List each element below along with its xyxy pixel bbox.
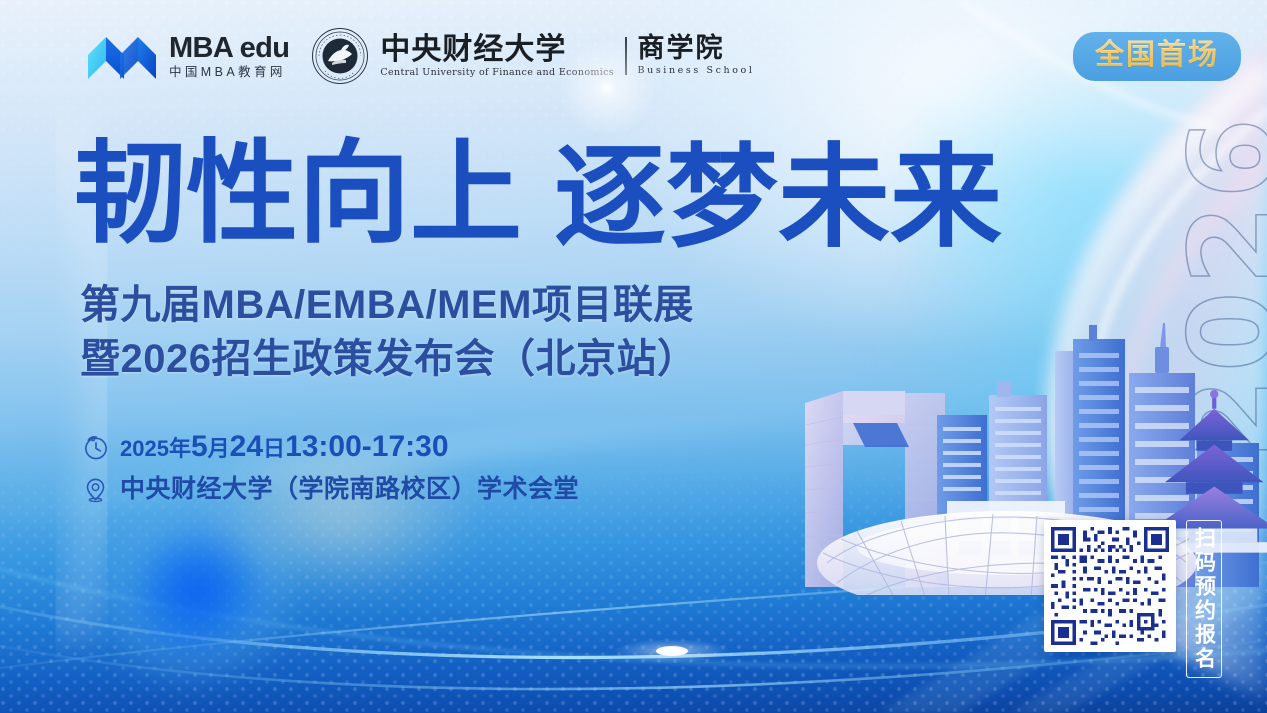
cufe-name-en: Central University of Finance and Econom… (380, 68, 614, 78)
national-first-badge-label: 全国首场 (1095, 39, 1219, 71)
date-month-unit: 月 (208, 436, 230, 461)
cufe-logo: 中央财经大学 Central University of Finance and… (311, 27, 754, 85)
event-location-row: 中央财经大学（学院南路校区）学术会堂 (82, 476, 579, 503)
qr-code-card[interactable] (1044, 520, 1176, 652)
mba-edu-title: MBA edu (169, 34, 289, 63)
qr-label-box: 扫码预约报名 (1186, 520, 1222, 678)
event-date-text: 2025年5月24日13:00-17:30 (120, 432, 449, 462)
calligraphy-headline: 韧性向上 逐梦未来 (74, 124, 974, 264)
event-subtitle: 第九届MBA/EMBA/MEM项目联展 暨2026招生政策发布会（北京站） (80, 278, 697, 387)
cufe-school-en: Business School (638, 66, 755, 76)
location-pin-icon (82, 476, 109, 503)
mba-edu-logo: MBA edu 中国MBA教育网 (88, 33, 289, 79)
date-day: 24 (230, 430, 263, 463)
qr-label-text: 扫码预约报名 (1194, 527, 1215, 671)
event-date-row: 2025年5月24日13:00-17:30 (82, 432, 579, 462)
calligraphy-line-1: 韧性向上 (74, 128, 522, 259)
calligraphy-svg: 韧性向上 逐梦未来 (74, 124, 974, 264)
mba-edu-subtitle: 中国MBA教育网 (169, 66, 289, 79)
event-location-text: 中央财经大学（学院南路校区）学术会堂 (120, 477, 579, 502)
cufe-seal-icon (311, 27, 369, 85)
clock-icon (82, 434, 109, 461)
date-year-unit: 年 (169, 436, 191, 461)
poster-header: MBA edu 中国MBA教育网 中央财经大学 Central Universi… (0, 0, 1267, 112)
cufe-name-cn: 中央财经大学 (380, 35, 614, 66)
subtitle-line-2: 暨2026招生政策发布会（北京站） (80, 332, 697, 386)
subtitle-line-1: 第九届MBA/EMBA/MEM项目联展 (80, 278, 697, 332)
qr-registration-block[interactable]: 扫码预约报名 (1044, 520, 1222, 678)
date-time: 13:00-17:30 (285, 430, 448, 463)
date-day-unit: 日 (263, 436, 285, 461)
cufe-school-cn: 商学院 (638, 35, 755, 62)
calligraphy-line-2: 逐梦未来 (554, 132, 1002, 263)
mba-edu-m-chevron-logo-icon (88, 33, 156, 79)
national-first-badge: 全国首场 (1073, 32, 1241, 81)
qr-code-icon[interactable] (1051, 527, 1169, 645)
date-month: 5 (191, 430, 208, 463)
date-year: 2025 (120, 436, 169, 461)
event-poster: 2026 (0, 0, 1267, 713)
event-info: 2025年5月24日13:00-17:30 中央财经大学（学院南路校区）学术会堂 (82, 432, 579, 517)
badge-container: 全国首场 (1073, 32, 1241, 81)
